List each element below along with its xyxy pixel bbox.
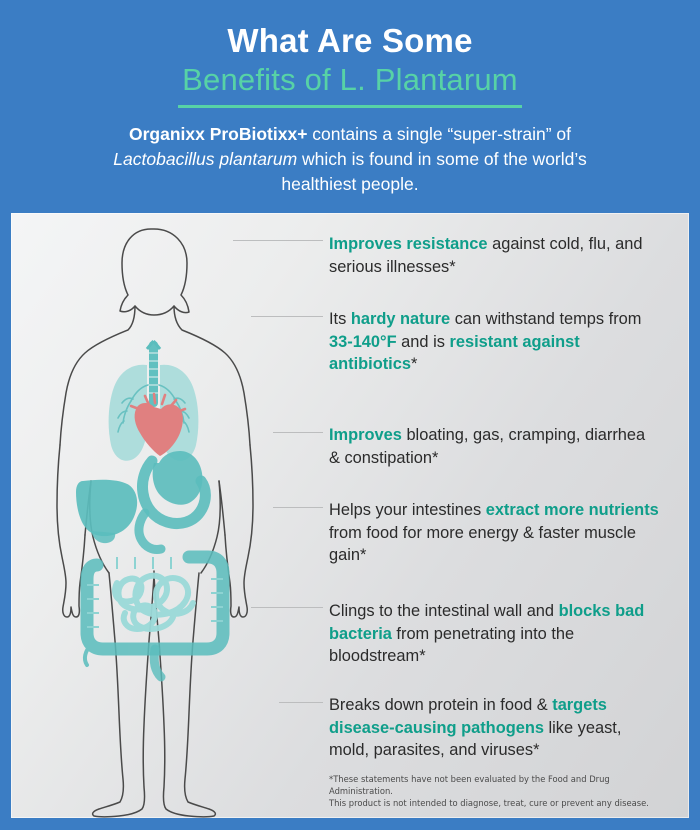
benefit-item-gut-barrier: Clings to the intestinal wall and blocks… (329, 600, 659, 668)
header: What Are Some Benefits of L. Plantarum O… (0, 0, 700, 213)
disclaimer-line-2: This product is not intended to diagnose… (329, 797, 669, 809)
organ-group (76, 341, 223, 677)
disclaimer-line-1: *These statements have not been evaluate… (329, 773, 669, 797)
benefit-hardiness-segment-1: hardy nature (351, 310, 450, 328)
stomach-icon (139, 451, 205, 550)
benefit-nutrient-absorption-segment-1: extract more nutrients (486, 501, 659, 519)
benefit-hardiness-segment-0: Its (329, 310, 351, 328)
infographic-root: What Are Some Benefits of L. Plantarum O… (0, 0, 700, 830)
subtitle-brand: Organixx ProBiotixx+ (129, 124, 307, 144)
connector-line-gut-barrier (251, 607, 323, 608)
connector-line-hardiness (251, 316, 323, 317)
benefit-item-pathogen-defense: Breaks down protein in food & targets di… (329, 694, 659, 762)
benefit-item-digestion: Improves bloating, gas, cramping, diarrh… (329, 424, 659, 469)
connector-line-immunity (233, 240, 323, 241)
benefit-item-immunity: Improves resistance against cold, flu, a… (329, 233, 659, 278)
benefits-list: Improves resistance against cold, flu, a… (323, 213, 673, 818)
benefit-nutrient-absorption-segment-0: Helps your intestines (329, 501, 486, 519)
benefit-digestion-segment-0: Improves (329, 426, 402, 444)
benefit-gut-barrier-segment-0: Clings to the intestinal wall and (329, 602, 559, 620)
page-title-line2: Benefits of L. Plantarum (182, 62, 518, 98)
benefit-hardiness-segment-6: * (411, 355, 417, 373)
benefit-pathogen-defense-segment-0: Breaks down protein in food & (329, 696, 552, 714)
benefit-item-nutrient-absorption: Helps your intestines extract more nutri… (329, 499, 659, 567)
subtitle-mid2: which is found in some of the world’s he… (281, 149, 586, 194)
subtitle-mid1: contains a single “super-strain” of (307, 124, 571, 144)
benefit-item-hardiness: Its hardy nature can withstand temps fro… (329, 308, 659, 376)
benefit-immunity-segment-0: Improves resistance (329, 235, 488, 253)
subtitle: Organixx ProBiotixx+ contains a single “… (90, 122, 610, 197)
disclaimer: *These statements have not been evaluate… (329, 773, 669, 809)
content-panel: Improves resistance against cold, flu, a… (11, 213, 689, 818)
body-illustration (21, 213, 321, 818)
page-title-line1: What Are Some (0, 0, 700, 60)
connector-line-nutrient-absorption (273, 507, 323, 508)
benefit-hardiness-segment-2: can withstand temps from (450, 310, 641, 328)
benefit-nutrient-absorption-segment-2: from food for more energy & faster muscl… (329, 524, 636, 565)
connector-line-digestion (273, 432, 323, 433)
benefit-hardiness-segment-4: and is (397, 333, 450, 351)
connector-line-pathogen-defense (279, 702, 323, 703)
benefit-hardiness-segment-3: 33-140°F (329, 333, 397, 351)
subtitle-species: Lactobacillus plantarum (113, 149, 297, 169)
page-title-underline: Benefits of L. Plantarum (178, 62, 522, 108)
